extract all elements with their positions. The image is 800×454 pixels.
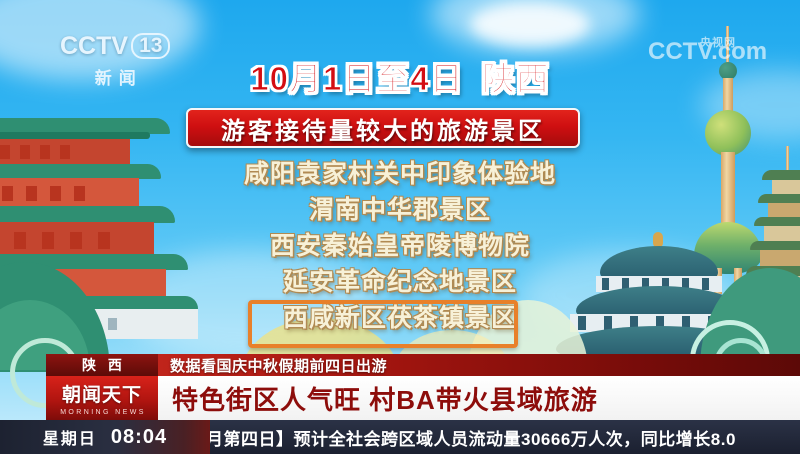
location-tag-label: 陕 西: [78, 355, 126, 375]
date-range: 10月1日至4日: [250, 60, 463, 97]
weekday-label: 星期日: [43, 425, 97, 449]
lower-third: 陕 西 数据看国庆中秋假期前四日出游 朝闻天下 MORNING NEWS 特色街…: [0, 354, 800, 454]
location-tag: 陕 西: [46, 354, 158, 376]
highlight-box: [248, 300, 518, 348]
date-province-title: 10月1日至4日陕西: [0, 52, 800, 100]
list-item: 咸阳袁家村关中印象体验地: [0, 156, 800, 192]
cloud: [470, 2, 590, 46]
subtitle-text: 数据看国庆中秋假期前四日出游: [170, 355, 387, 376]
ticker-text: 月第四日】预计全社会跨区域人员流动量30666万人次，同比增长8.0: [210, 425, 736, 450]
province-name: 陕西: [482, 60, 550, 97]
watermark-cn-text: 央视网: [700, 34, 736, 50]
program-logo: 朝闻天下 MORNING NEWS: [46, 376, 158, 420]
news-ticker: 月第四日】预计全社会跨区域人员流动量30666万人次，同比增长8.0: [210, 420, 800, 454]
list-item: 延安革命纪念地景区: [0, 264, 800, 300]
program-name-en: MORNING NEWS: [58, 409, 146, 416]
program-name: 朝闻天下: [62, 380, 142, 407]
clock-time: 08:04: [111, 426, 167, 449]
clock-box: 星期日 08:04: [0, 420, 210, 454]
broadcast-screenshot: CCTV13 新闻 CCTV.com 央视网 10月1日至4日陕西 游客接待量较…: [0, 0, 800, 454]
headline-text: 特色街区人气旺 村BA带火县域旅游: [172, 380, 598, 417]
subtitle-bar: 数据看国庆中秋假期前四日出游: [158, 354, 800, 376]
headline-row: 朝闻天下 MORNING NEWS 特色街区人气旺 村BA带火县域旅游: [46, 376, 800, 420]
graphic-banner-label: 游客接待量较大的旅游景区: [221, 111, 545, 146]
ticker-row: 星期日 08:04 月第四日】预计全社会跨区域人员流动量30666万人次，同比增…: [0, 420, 800, 454]
subtitle-row: 陕 西 数据看国庆中秋假期前四日出游: [46, 354, 800, 376]
list-item: 西安秦始皇帝陵博物院: [0, 228, 800, 264]
list-item: 渭南中华郡景区: [0, 192, 800, 228]
graphic-banner: 游客接待量较大的旅游景区: [186, 108, 580, 148]
headline-bar: 特色街区人气旺 村BA带火县域旅游: [158, 376, 800, 420]
